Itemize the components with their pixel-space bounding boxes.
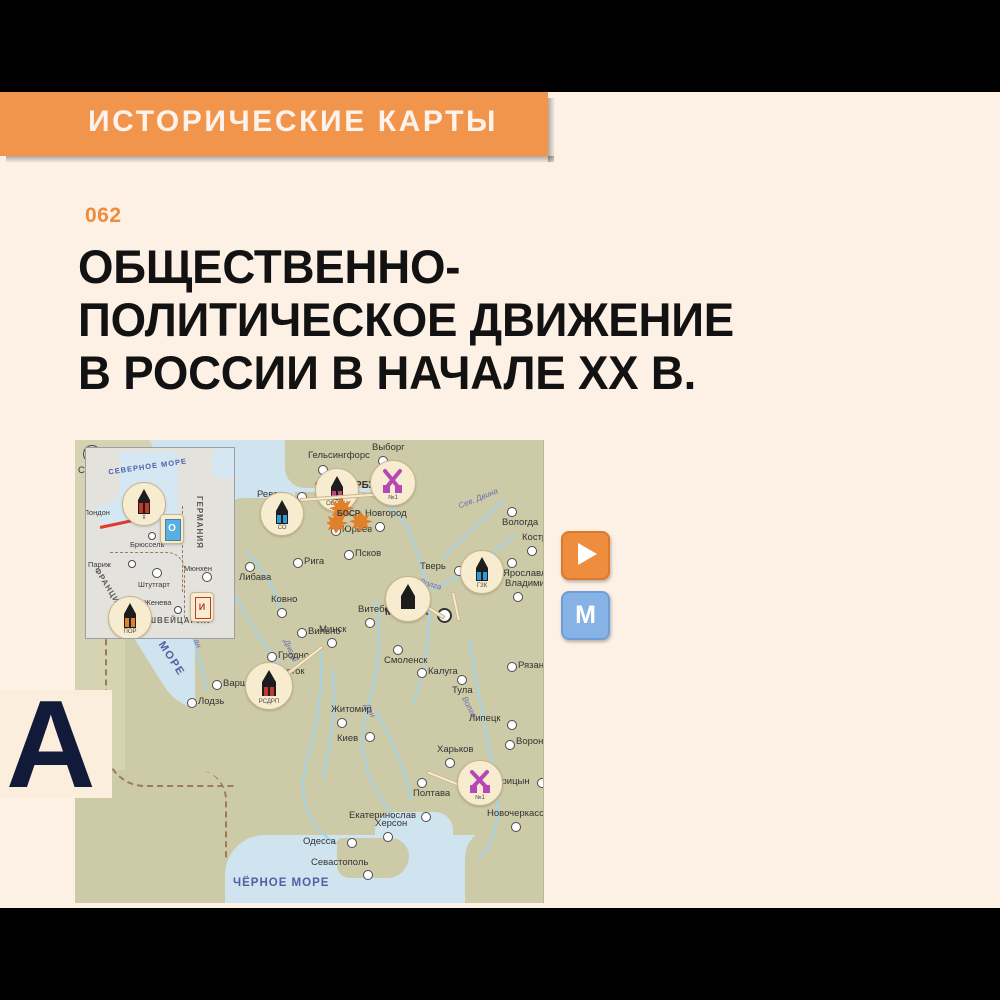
city-marker bbox=[365, 732, 375, 742]
city-label: Владимир bbox=[505, 579, 544, 589]
city-marker bbox=[507, 720, 517, 730]
inset-marker-publication-o[interactable]: О bbox=[160, 514, 184, 544]
marker-rsdrp[interactable]: РСДРП bbox=[245, 662, 293, 710]
inset-country-germany: ГЕРМАНИЯ bbox=[195, 496, 204, 549]
city-label: Рига bbox=[304, 557, 324, 567]
m-button[interactable]: M bbox=[561, 591, 610, 640]
city-label: Гельсингфорс bbox=[308, 451, 370, 461]
city-marker bbox=[393, 645, 403, 655]
city-label: Либава bbox=[239, 573, 271, 583]
city-marker bbox=[507, 558, 517, 568]
congress-icon bbox=[386, 577, 430, 621]
inset-city-london: Лондон bbox=[85, 508, 110, 517]
logo-letter-a: А bbox=[0, 690, 112, 798]
play-icon bbox=[578, 543, 597, 565]
city-marker bbox=[527, 546, 537, 556]
city-marker bbox=[187, 698, 197, 708]
europe-inset-map[interactable]: СЕВЕРНОЕ МОРЕ ГЕРМАНИЯ ФРАНЦИЯ ШВЕЙЦАРИЯ… bbox=[85, 447, 235, 639]
sea-label-black: ЧЁРНОЕ МОРЕ bbox=[233, 877, 329, 889]
page-title: ОБЩЕСТВЕННО- ПОЛИТИЧЕСКОЕ ДВИЖЕНИЕ В РОС… bbox=[78, 240, 883, 399]
city-marker bbox=[445, 758, 455, 768]
play-button[interactable] bbox=[561, 531, 610, 580]
city-label: Ковно bbox=[271, 595, 297, 605]
city-label: Кострома bbox=[522, 533, 544, 543]
banner-title: ИСТОРИЧЕСКИЕ КАРТЫ bbox=[88, 105, 498, 139]
slide-stage: ИСТОРИЧЕСКИЕ КАРТЫ 062 ОБЩЕСТВЕННО- ПОЛИ… bbox=[0, 92, 1000, 908]
inset-land-britain bbox=[85, 447, 120, 506]
marker-label: ГЗК bbox=[461, 583, 503, 589]
city-marker bbox=[293, 558, 303, 568]
city-marker bbox=[297, 628, 307, 638]
city-marker bbox=[417, 668, 427, 678]
marker-so[interactable]: СО bbox=[260, 492, 304, 536]
title-line-3: В РОССИИ В НАЧАЛЕ XX В. bbox=[78, 346, 883, 399]
marker-label: ПОР bbox=[109, 629, 151, 635]
inset-city-marker-stuttgart bbox=[152, 568, 162, 578]
inset-marker-congress-por[interactable]: ПОР bbox=[108, 596, 152, 639]
city-label: Выборг bbox=[372, 443, 405, 453]
title-line-2: ПОЛИТИЧЕСКОЕ ДВИЖЕНИЕ bbox=[78, 293, 883, 346]
logo-letter-text: А bbox=[6, 690, 96, 798]
city-label: Тула bbox=[452, 686, 473, 696]
city-marker bbox=[344, 550, 354, 560]
inset-city-marker-munich bbox=[202, 572, 212, 582]
slide-number: 062 bbox=[85, 204, 122, 228]
city-marker bbox=[537, 778, 544, 788]
city-label: Киев bbox=[337, 734, 358, 744]
city-marker bbox=[457, 675, 467, 685]
marker-label: О bbox=[165, 519, 179, 539]
marker-moscow-congress[interactable] bbox=[385, 576, 431, 622]
city-label: Минск bbox=[319, 625, 346, 635]
city-marker bbox=[421, 812, 431, 822]
city-label: Херсон bbox=[375, 819, 407, 829]
city-label: Харьков bbox=[437, 745, 473, 755]
banner-shadow bbox=[6, 156, 554, 163]
inset-city-marker-geneva bbox=[174, 606, 182, 614]
city-label: Новочеркасск bbox=[487, 809, 544, 819]
city-marker bbox=[337, 718, 347, 728]
city-marker bbox=[507, 507, 517, 517]
city-label: Смоленск bbox=[384, 656, 427, 666]
inset-sea-baltic bbox=[212, 448, 235, 478]
marker-label: БОСР bbox=[337, 509, 360, 518]
city-marker bbox=[417, 778, 427, 788]
city-marker bbox=[505, 740, 515, 750]
city-marker bbox=[511, 822, 521, 832]
city-marker bbox=[347, 838, 357, 848]
marker-label: РСДРП bbox=[246, 699, 292, 705]
city-label: Липецк bbox=[469, 714, 501, 724]
city-marker bbox=[245, 562, 255, 572]
city-label: Полтава bbox=[413, 789, 450, 799]
marker-label: №1 bbox=[371, 495, 415, 501]
city-label: Одесса bbox=[303, 837, 336, 847]
city-label: Рязань bbox=[518, 661, 544, 671]
title-line-1: ОБЩЕСТВЕННО- bbox=[78, 240, 883, 293]
slide-root: ИСТОРИЧЕСКИЕ КАРТЫ 062 ОБЩЕСТВЕННО- ПОЛИ… bbox=[0, 0, 1000, 1000]
inset-marker-publication-i[interactable]: И bbox=[190, 592, 214, 622]
city-marker bbox=[267, 652, 277, 662]
city-label: Житомир bbox=[331, 705, 372, 715]
marker-label: И bbox=[195, 597, 209, 617]
city-marker bbox=[277, 608, 287, 618]
m-button-label: M bbox=[563, 593, 608, 638]
inset-city-paris: Париж bbox=[88, 560, 111, 569]
marker-label: №1 bbox=[458, 795, 502, 801]
city-marker bbox=[327, 638, 337, 648]
city-marker bbox=[507, 662, 517, 672]
inset-city-stuttgart: Штутгарт bbox=[138, 580, 170, 589]
marker-strike-poltava[interactable]: №1 bbox=[457, 760, 503, 806]
city-label: Воронеж bbox=[516, 737, 544, 747]
city-label: Псков bbox=[355, 549, 381, 559]
inset-city-marker-brussels bbox=[148, 532, 156, 540]
city-label: Калуга bbox=[428, 667, 458, 677]
banner-shadow-right bbox=[548, 98, 555, 162]
city-marker bbox=[363, 870, 373, 880]
city-label: Тверь bbox=[420, 562, 446, 572]
marker-label: СО bbox=[261, 525, 303, 531]
city-label: Севастополь bbox=[311, 858, 368, 868]
marker-label: II bbox=[123, 515, 165, 521]
city-label: Лодзь bbox=[198, 697, 224, 707]
marker-gzk[interactable]: ГЗК bbox=[460, 550, 504, 594]
city-marker bbox=[212, 680, 222, 690]
city-marker bbox=[383, 832, 393, 842]
inset-city-marker-paris bbox=[128, 560, 136, 568]
city-marker bbox=[513, 592, 523, 602]
marker-strike-1[interactable]: №1 bbox=[370, 460, 416, 506]
city-label: Вологда bbox=[502, 518, 538, 528]
city-marker bbox=[365, 618, 375, 628]
